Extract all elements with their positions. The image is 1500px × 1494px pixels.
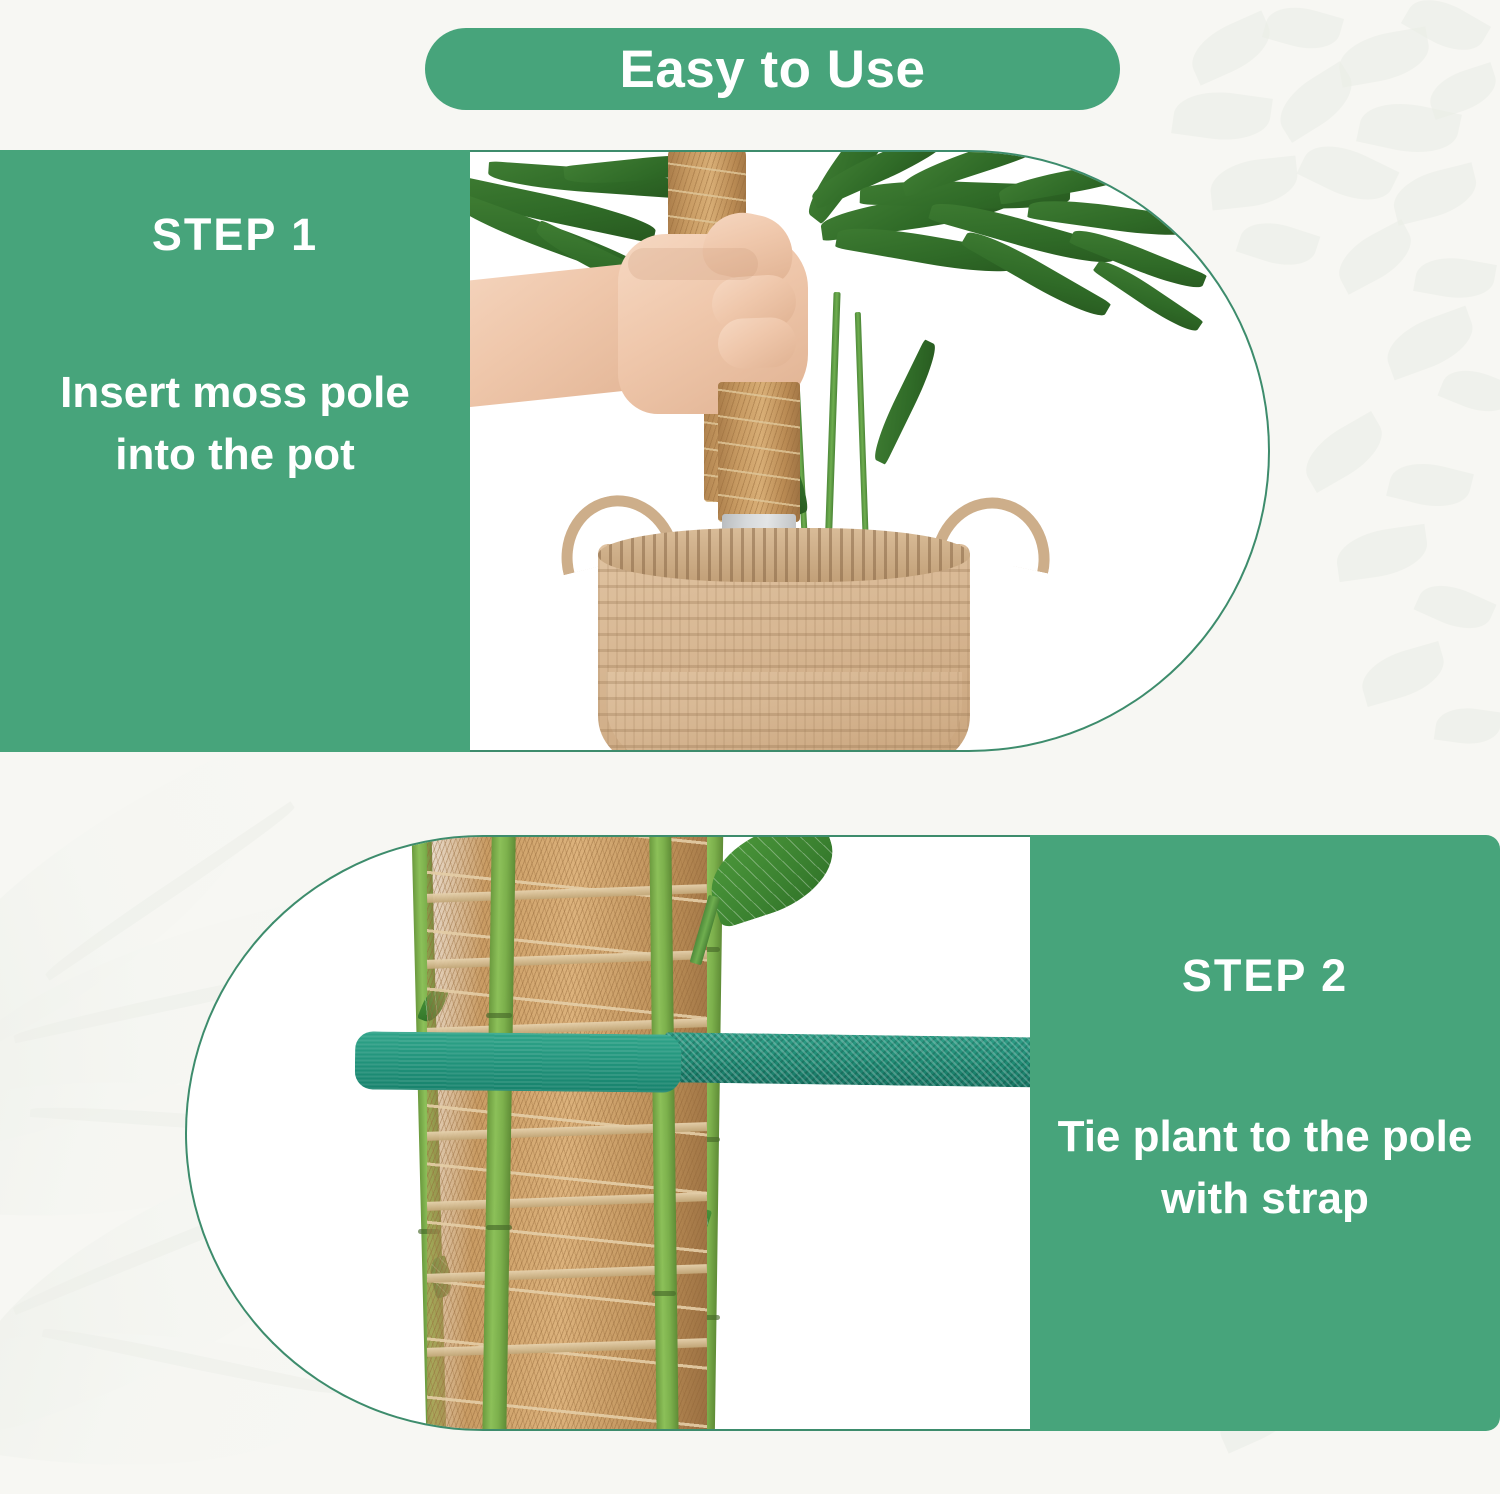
plant-strap-loop: [355, 1031, 682, 1092]
step-1-card: STEP 1 Insert moss pole into the pot: [0, 150, 1270, 752]
hand-finger: [717, 317, 797, 370]
basket-lower-band: [606, 672, 962, 752]
cane-node: [486, 1013, 512, 1018]
step-2-kicker: STEP 2: [1182, 953, 1348, 998]
plant-leaf: [997, 157, 1149, 205]
plant-leaf: [868, 339, 943, 465]
step-1-text-panel: STEP 1 Insert moss pole into the pot: [0, 150, 470, 752]
plant-strap-webbing: [665, 1032, 1045, 1088]
hand-knuckle-shadow: [628, 248, 758, 280]
step-2-caption: Tie plant to the pole with strap: [1045, 1106, 1485, 1231]
step-2-photo: [185, 835, 1045, 1431]
step-1-caption: Insert moss pole into the pot: [20, 362, 450, 487]
page-title: Easy to Use: [620, 43, 926, 96]
step-2-text-panel: STEP 2 Tie plant to the pole with strap: [1030, 835, 1500, 1431]
header-title-pill: Easy to Use: [425, 28, 1120, 110]
step-1-kicker: STEP 1: [152, 212, 318, 257]
basket-rim: [598, 528, 970, 582]
step-1-photo: [468, 150, 1270, 752]
background-watermark-right-mid: [1240, 420, 1500, 780]
cane-node: [486, 1225, 512, 1230]
moss-pole: [718, 382, 800, 522]
cane-node: [652, 1291, 676, 1296]
infographic-canvas: Easy to Use: [0, 0, 1500, 1494]
step-2-card: STEP 2 Tie plant to the pole with strap: [185, 835, 1500, 1431]
